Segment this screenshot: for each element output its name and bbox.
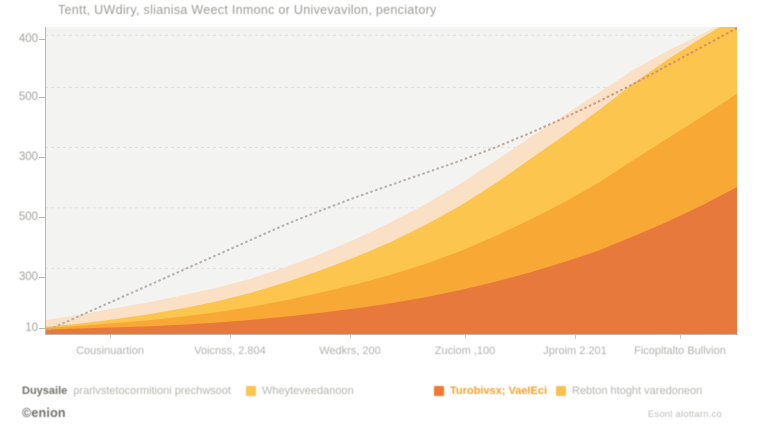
x-axis-tick-label: Jproim 2.201 <box>543 345 607 357</box>
x-axis-tick-label: Ficopltalto Bullvion <box>634 345 726 357</box>
legend-swatch-icon <box>434 386 444 396</box>
legend-item-turobivsx[interactable]: Turobivsx; VaeIEci <box>434 380 547 402</box>
page-title: Tentt, UWdiry, slianisa Weect Inmonc or … <box>58 0 748 20</box>
legend-label: Duysaile <box>22 385 67 397</box>
x-axis-tick-mark <box>575 335 576 339</box>
legend-label: Rebton htoght varedoneon <box>572 385 702 397</box>
legend-label: Turobivsx; VaeIEci <box>450 385 547 397</box>
x-axis-tick-mark <box>465 335 466 339</box>
legend-swatch-icon <box>246 386 256 396</box>
y-axis-spine <box>45 27 46 335</box>
source-attribution: Esonl alottarn.co <box>648 409 722 420</box>
brand-logo: ©enion <box>22 406 66 420</box>
chart-page: Tentt, UWdiry, slianisa Weect Inmonc or … <box>0 0 760 426</box>
x-axis-tick-label: Wedkrs, 200 <box>319 345 381 357</box>
y-axis-tick-label: 300 <box>0 271 38 283</box>
y-axis: 400 500 300 500 300 10 <box>0 0 38 426</box>
x-axis-tick-mark <box>110 335 111 339</box>
chart-legend: Duysaile prarlvstetocormitioni prechwsoo… <box>0 380 760 402</box>
legend-label: Wheyteveedanoon <box>262 385 354 397</box>
y-axis-tick-label: 500 <box>0 91 38 103</box>
x-axis-spine <box>45 334 738 335</box>
x-axis-tick-mark <box>230 335 231 339</box>
legend-swatch-icon <box>556 386 566 396</box>
x-axis-tick-label: Zuciom ,100 <box>435 345 496 357</box>
legend-label: prarlvstetocormitioni prechwsoot <box>73 385 231 397</box>
area-chart-svg <box>45 27 737 334</box>
x-axis-tick-mark <box>350 335 351 339</box>
y-axis-tick-label: 10 <box>0 322 38 334</box>
legend-item-duysaile[interactable]: Duysaile prarlvstetocormitioni prechwsoo… <box>22 380 231 402</box>
x-axis-tick-label: Voicnss, 2.804 <box>194 345 266 357</box>
x-axis-tick-mark <box>680 335 681 339</box>
y-axis-tick-label: 500 <box>0 211 38 223</box>
legend-item-rebton[interactable]: Rebton htoght varedoneon <box>556 380 702 402</box>
plot-area <box>45 27 737 334</box>
x-axis-tick-label: Cousinuartion <box>76 345 144 357</box>
y-axis-tick-label: 300 <box>0 151 38 163</box>
legend-item-wheyteveedanoon[interactable]: Wheyteveedanoon <box>246 380 354 402</box>
y-axis-tick-label: 400 <box>0 33 38 45</box>
